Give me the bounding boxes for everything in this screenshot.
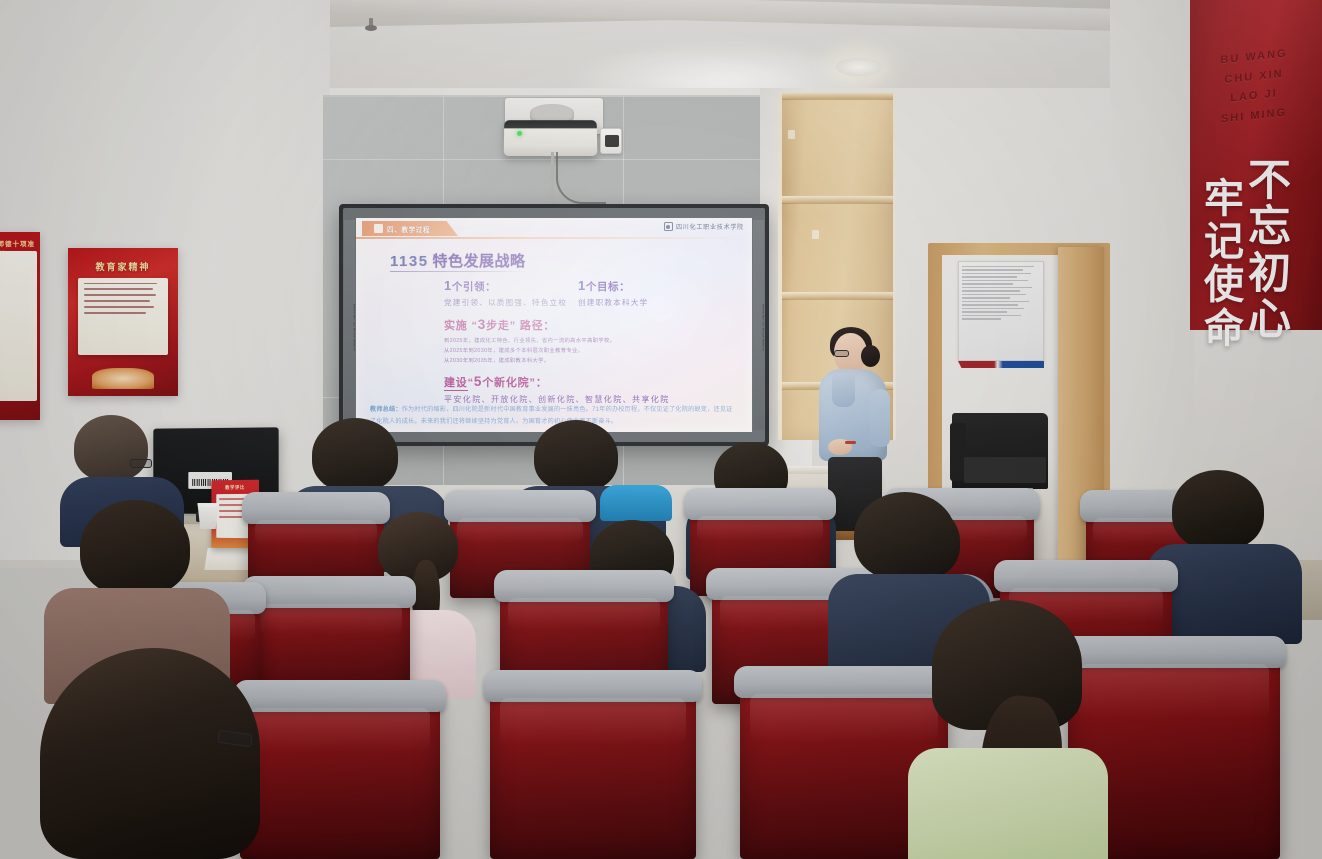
lead-heading-number: 1 (444, 278, 452, 293)
slide-header-rule (356, 237, 752, 239)
screen-bezel: 智慧黑板 触控一体机 教学终端 多媒体显示 智慧黑板 触控一体机 教学终端 多媒… (343, 208, 765, 442)
projector-pole (551, 152, 554, 210)
bezel-label-left: 智慧黑板 触控一体机 教学终端 多媒体显示 (344, 220, 355, 430)
attendee-hair (534, 420, 618, 492)
slogan-hanzi-right-column: 不 忘 初 心 (1248, 158, 1291, 344)
step-item: 从2030年到2035年，建成职教本科大学。 (444, 357, 722, 367)
slogan-char: 使 (1204, 264, 1244, 307)
presenter-arm (870, 389, 890, 447)
slide-body: 1个引领： 党建引领、以质图强、特色立校 1个目标： 创建职教本科大学 实 (356, 278, 752, 405)
black-sofa (952, 413, 1048, 489)
attendee-10 (1158, 470, 1284, 630)
step-item: 到2025年，建成化工特色、行业领先、省内一流的高水平高职学校。 (444, 337, 722, 347)
attendee-torso (908, 748, 1108, 859)
educator-spirit-poster: 教育家精神 (68, 248, 178, 396)
pinyin-line: LAO JI (1198, 81, 1310, 112)
step-list: 到2025年，建成化工特色、行业领先、省内一流的高水平高职学校。 从2025年到… (386, 337, 722, 366)
slide-block-lead: 1个引领： 党建引领、以质图强、特色立校 (386, 278, 568, 308)
poster-text-card (78, 278, 168, 355)
build-heading-colon: ： (536, 377, 548, 389)
slogan-char: 忘 (1248, 204, 1291, 250)
fire-sprinkler-icon (365, 18, 377, 32)
slide-section-tab-label: 四、教学过程 (387, 224, 430, 234)
goal-content: 创建职教本科大学 (578, 297, 722, 308)
institution-logo-label: 四川化工职业技术学院 (676, 222, 744, 231)
classroom-scene: 智慧黑板 触控一体机 教学终端 多媒体显示 智慧黑板 触控一体机 教学终端 多媒… (0, 0, 1322, 859)
presenter-bow-tie (832, 373, 855, 407)
information-board (958, 261, 1044, 361)
presenter-wrist-band (845, 441, 856, 444)
attendee-hair (1172, 470, 1264, 550)
pinyin-line: CHU XIN (1198, 62, 1310, 93)
poster-book-graphic (92, 368, 154, 389)
slogan-pinyin: BU WANG CHU XIN LAO JI SHI MING (1198, 42, 1310, 132)
blue-task-chair (600, 485, 672, 521)
attendee-glasses-icon (130, 459, 152, 468)
tab-mark-icon (374, 224, 383, 233)
attendee-hair (40, 648, 260, 859)
slogan-hanzi-left-column: 牢 记 使 命 (1204, 178, 1244, 351)
build-heading-prefix: 建设 (444, 377, 468, 391)
summary-label: 教师总结： (370, 406, 402, 413)
school-emblem-icon (664, 222, 673, 231)
slogan-char: 不 (1248, 158, 1291, 204)
bezel-label-right: 智慧黑板 触控一体机 教学终端 多媒体显示 (753, 220, 764, 430)
slide-title-text: 特色发展战略 (433, 253, 526, 270)
attendee-hair (80, 500, 190, 596)
auditorium-seat[interactable] (490, 680, 696, 859)
projection-screen[interactable]: 智慧黑板 触控一体机 教学终端 多媒体显示 智慧黑板 触控一体机 教学终端 多媒… (339, 204, 769, 446)
presentation-slide[interactable]: 四、教学过程 四川化工职业技术学院 1135特色发展战略 (356, 218, 752, 432)
slogan-char: 命 (1204, 308, 1244, 351)
slogan-char: 记 (1204, 221, 1244, 264)
goal-heading-number: 1 (578, 278, 586, 293)
information-board-footer (958, 361, 1044, 368)
poster-title: 教育家精神 (68, 260, 178, 273)
poster-edge-card (0, 251, 37, 401)
institution-logo: 四川化工职业技术学院 (664, 222, 744, 231)
build-heading-number: 5 (474, 374, 482, 389)
step-heading-number: 3 (478, 317, 486, 332)
projector-power-led (517, 131, 522, 136)
wall-power-outlet-icon[interactable] (600, 128, 622, 154)
conduct-guidelines-poster: 师德十项准则 (0, 232, 40, 420)
tent-card-title: 教学评比 (211, 485, 259, 492)
pinyin-line: BU WANG (1198, 42, 1310, 73)
slogan-char: 心 (1248, 297, 1291, 343)
attendee-hair (312, 418, 398, 492)
projector-cable (556, 152, 606, 204)
attendee-front-close-left (40, 648, 280, 859)
step-item: 从2025年到2030年，建成多个本科层次职业教育专业。 (444, 347, 722, 357)
step-heading-prefix: 实施 “ (444, 320, 478, 332)
step-heading-suffix: 步走” 路径： (486, 320, 555, 332)
slide-section-tab: 四、教学过程 (362, 221, 458, 236)
goal-heading: 1个目标： (578, 278, 722, 294)
slide-title-underline (390, 271, 528, 272)
goal-heading-text: 个目标： (586, 281, 630, 293)
slide-block-goal: 1个目标： 创建职教本科大学 (568, 278, 722, 308)
step-heading: 实施 “3步走” 路径： (386, 317, 722, 333)
ceiling-projector-icon (504, 120, 598, 156)
slide-title-number: 1135 (390, 253, 429, 270)
pinyin-line: SHI MING (1198, 101, 1310, 132)
presenter-glasses-icon (834, 350, 849, 357)
build-heading-text: 个新化院” (482, 377, 536, 389)
slide-header: 四、教学过程 四川化工职业技术学院 (356, 218, 752, 239)
slide-top-row: 1个引领： 党建引领、以质图强、特色立校 1个目标： 创建职教本科大学 (386, 278, 722, 308)
attendee-9 (912, 600, 1132, 859)
slogan-char: 初 (1248, 251, 1291, 297)
build-heading: 建设“5个新化院”： (386, 374, 722, 390)
slide-title: 1135特色发展战略 (390, 250, 526, 271)
lead-content: 党建引领、以质图强、特色立校 (444, 297, 568, 308)
attendee-hair (854, 492, 956, 580)
lead-heading-text: 个引领： (452, 281, 496, 293)
lead-heading: 1个引领： (444, 278, 568, 294)
presenter-ponytail (861, 345, 880, 367)
slogan-char: 牢 (1204, 178, 1244, 221)
recessed-downlight-icon (836, 58, 882, 76)
